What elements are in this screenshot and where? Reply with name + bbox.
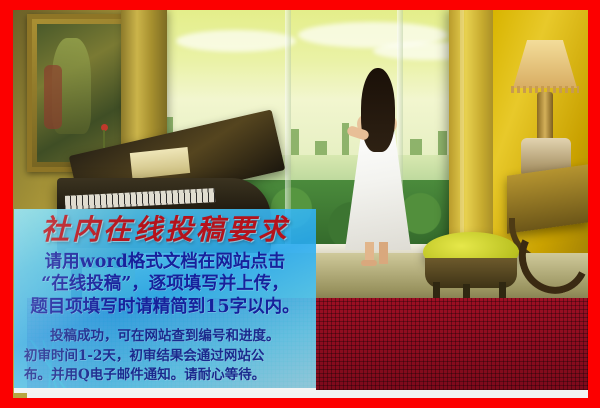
poster-root: 社内在线投稿要求 请用word格式文档在网站点击 “在线投稿”，逐项填写并上传，… — [0, 0, 600, 408]
notice-main-text: 请用word格式文档在网站点击 “在线投稿”，逐项填写并上传， 题目项填写时请精… — [14, 251, 316, 318]
notice-sub-text: 投稿成功，可在网站查到编号和进度。 初审时间1-2天，初审结果会通过网站公 布。… — [14, 327, 316, 386]
notice-sub-line-2: 初审时间1-2天，初审结果会通过网站公 — [24, 347, 308, 367]
notice-sub-line-3: 布。并用Q电子邮件通知。请耐心等待。 — [24, 366, 308, 386]
wall-picture-artwork — [37, 24, 121, 162]
notice-main-line-2: “在线投稿”，逐项填写并上传， — [18, 273, 312, 295]
lamp-stem — [537, 92, 553, 144]
rose-stem — [103, 130, 105, 148]
woman-foot — [361, 260, 377, 266]
notice-main-line-3: 题目项填写时请精简到15字以内。 — [18, 296, 312, 318]
woman-leg — [379, 242, 388, 264]
notice-main-line-1: 请用word格式文档在网站点击 — [18, 251, 312, 273]
notice-panel-bottom-edge — [14, 388, 316, 393]
notice-sub-line-1: 投稿成功，可在网站查到编号和进度。 — [24, 327, 308, 347]
notice-title: 社内在线投稿要求 — [14, 215, 316, 246]
notice-panel: 社内在线投稿要求 请用word格式文档在网站点击 “在线投稿”，逐项填写并上传，… — [14, 209, 316, 388]
cloud — [176, 30, 296, 52]
